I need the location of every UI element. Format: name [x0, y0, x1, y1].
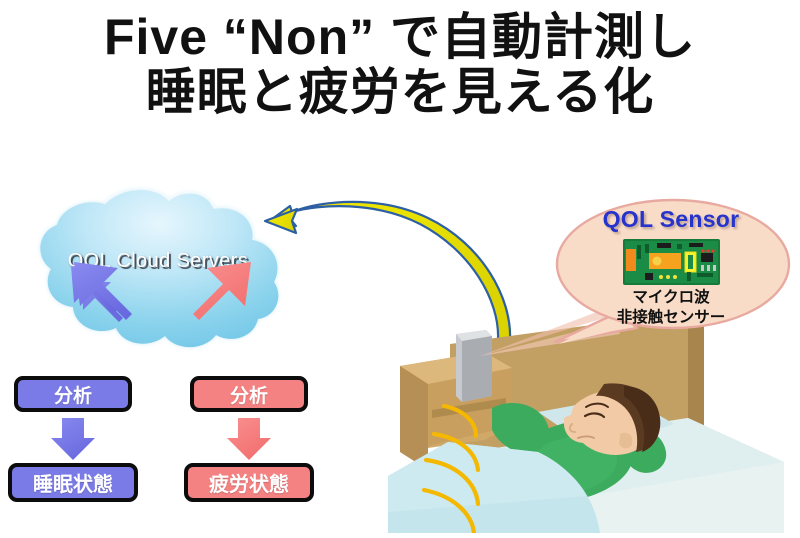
sensor-callout-bubble: QOL Sensor	[545, 192, 797, 348]
box-analysis-fatigue[interactable]: 分析	[190, 376, 308, 412]
arrow-sleep-analysis-to-state	[51, 418, 95, 460]
box-state-sleep[interactable]: 睡眠状態	[8, 463, 138, 502]
bubble-subtitle-line2: 非接触センサー	[545, 308, 797, 328]
bubble-subtitle-line1: マイクロ波	[545, 288, 797, 308]
circuit-board-icon	[623, 239, 720, 285]
arrow-fatigue-analysis-to-state	[227, 418, 271, 460]
box-analysis-sleep[interactable]: 分析	[14, 376, 132, 412]
sensor-device	[456, 330, 492, 402]
arrow-cloud-to-fatigue-analysis	[193, 262, 251, 320]
bubble-title: QOL Sensor	[545, 206, 797, 233]
slide-canvas: Five “Non” で自動計測し 睡眠と疲労を見える化 Q	[0, 0, 800, 533]
arrow-cloud-to-sleep-analysis	[71, 262, 132, 322]
box-state-fatigue[interactable]: 疲労状態	[184, 463, 314, 502]
bubble-subtitle: マイクロ波 非接触センサー	[545, 288, 797, 328]
